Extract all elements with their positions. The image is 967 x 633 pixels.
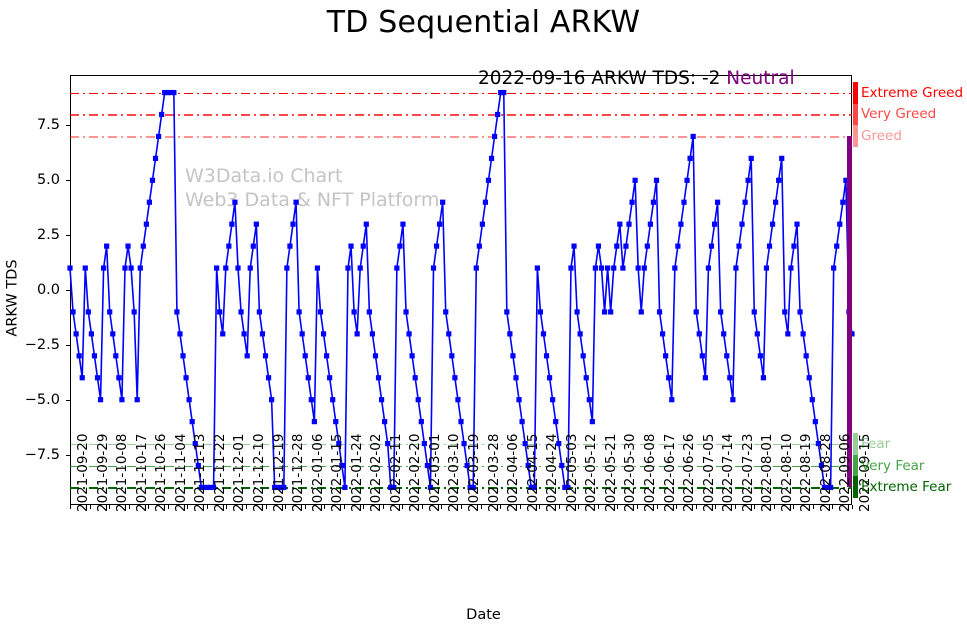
series-point: [287, 244, 292, 249]
series-point: [519, 419, 524, 424]
series-point: [629, 200, 634, 205]
zone-label-very-greed: Very Greed: [861, 106, 936, 122]
series-point: [70, 309, 75, 314]
series-point: [141, 244, 146, 249]
series-point: [373, 353, 378, 358]
series-point: [801, 331, 806, 336]
series-point: [220, 331, 225, 336]
series-point: [245, 353, 250, 358]
x-tick-label: 2022-08-01: [759, 434, 775, 512]
series-point: [113, 353, 118, 358]
x-axis-label: Date: [0, 607, 967, 623]
series-point: [147, 200, 152, 205]
x-tick-mark: [617, 505, 618, 509]
x-tick-mark: [481, 505, 482, 509]
series-point: [95, 375, 100, 380]
x-tick-label: 2022-07-14: [720, 434, 736, 512]
series-point: [443, 309, 448, 314]
x-tick-mark: [324, 505, 325, 509]
series-point: [77, 353, 82, 358]
plot-area: W3Data.io Chart Web3 Data & NFT Platform…: [70, 75, 852, 505]
x-tick-label: 2021-09-20: [75, 434, 91, 512]
series-point: [330, 397, 335, 402]
series-point: [581, 353, 586, 358]
series-point: [358, 265, 363, 270]
series-point: [840, 200, 845, 205]
series-point: [174, 309, 179, 314]
series-point: [351, 309, 356, 314]
x-tick-mark: [129, 505, 130, 509]
x-tick-label: 2022-07-05: [701, 434, 717, 512]
series-point: [345, 265, 350, 270]
series-point: [312, 419, 317, 424]
series-point: [171, 90, 176, 95]
series-point: [431, 265, 436, 270]
x-tick-label: 2022-02-11: [388, 434, 404, 512]
series-point: [660, 331, 665, 336]
series-point: [229, 222, 234, 227]
series-point: [419, 419, 424, 424]
series-point: [608, 309, 613, 314]
x-tick-mark: [90, 505, 91, 509]
zone-swatch-very-fear: [853, 455, 858, 477]
y-tick-label: 5.0: [37, 172, 60, 188]
series-point: [480, 222, 485, 227]
series-point: [691, 134, 696, 139]
series-line: [70, 93, 852, 488]
series-point: [639, 309, 644, 314]
series-point: [474, 265, 479, 270]
series-point: [538, 309, 543, 314]
current-value-annotation: 2022-09-16 ARKW TDS: -2 Neutral: [478, 68, 795, 89]
series-point: [232, 200, 237, 205]
x-tick-mark: [422, 505, 423, 509]
series-point: [773, 200, 778, 205]
series-point: [303, 353, 308, 358]
x-tick-mark: [832, 505, 833, 509]
series-point: [190, 419, 195, 424]
series-point: [74, 331, 79, 336]
annotation-main-text: 2022-09-16 ARKW TDS: -2: [478, 68, 720, 89]
series-point: [242, 331, 247, 336]
x-tick-mark: [70, 505, 71, 509]
series-point: [709, 244, 714, 249]
series-point: [300, 331, 305, 336]
series-point: [128, 265, 133, 270]
series-point: [159, 112, 164, 117]
zone-label-greed: Greed: [861, 128, 902, 144]
series-point: [187, 397, 192, 402]
x-tick-label: 2021-09-29: [95, 434, 111, 512]
x-tick-mark: [735, 505, 736, 509]
x-tick-label: 2022-08-19: [798, 434, 814, 512]
x-tick-label: 2022-06-26: [681, 434, 697, 512]
series-point: [315, 265, 320, 270]
y-tick-mark: [66, 345, 70, 346]
series-point: [122, 265, 127, 270]
series-point: [367, 309, 372, 314]
y-tick-mark: [66, 235, 70, 236]
series-point: [183, 375, 188, 380]
series-point: [761, 375, 766, 380]
series-point: [776, 178, 781, 183]
series-point: [834, 244, 839, 249]
x-tick-mark: [402, 505, 403, 509]
series-point: [636, 265, 641, 270]
series-point: [318, 309, 323, 314]
series-point: [486, 178, 491, 183]
x-tick-label: 2021-11-04: [173, 434, 189, 512]
series-point: [382, 419, 387, 424]
y-axis-label: ARKW TDS: [5, 259, 21, 336]
series-point: [742, 200, 747, 205]
zone-swatch-very-greed: [853, 103, 858, 125]
series-point: [746, 178, 751, 183]
y-tick-label: −5.0: [25, 392, 60, 408]
x-tick-mark: [598, 505, 599, 509]
series-point: [416, 397, 421, 402]
series-point: [684, 178, 689, 183]
x-tick-mark: [813, 505, 814, 509]
x-tick-label: 2022-04-24: [544, 434, 560, 512]
x-tick-mark: [441, 505, 442, 509]
x-tick-mark: [520, 505, 521, 509]
x-tick-label: 2022-02-20: [407, 434, 423, 512]
x-tick-mark: [383, 505, 384, 509]
series-point: [110, 331, 115, 336]
x-tick-mark: [461, 505, 462, 509]
y-tick-label: 7.5: [37, 117, 60, 133]
y-tick-label: −7.5: [25, 447, 60, 463]
x-tick-mark: [344, 505, 345, 509]
y-tick-label: −2.5: [25, 337, 60, 353]
x-tick-label: 2022-06-08: [642, 434, 658, 512]
series-point: [238, 309, 243, 314]
series-point: [397, 244, 402, 249]
series-point: [794, 222, 799, 227]
series-point: [755, 331, 760, 336]
series-point: [156, 134, 161, 139]
x-tick-label: 2021-12-19: [271, 434, 287, 512]
series-point: [770, 222, 775, 227]
series-point: [724, 353, 729, 358]
x-tick-mark: [246, 505, 247, 509]
series-point: [706, 265, 711, 270]
series-point: [492, 134, 497, 139]
series-point: [764, 265, 769, 270]
series-point: [489, 156, 494, 161]
y-tick-mark: [66, 400, 70, 401]
series-point: [125, 244, 130, 249]
y-tick-mark: [66, 455, 70, 456]
x-tick-label: 2022-08-28: [818, 434, 834, 512]
series-point: [483, 200, 488, 205]
x-tick-label: 2021-12-10: [251, 434, 267, 512]
series-point: [455, 397, 460, 402]
series-point: [785, 331, 790, 336]
x-tick-mark: [500, 505, 501, 509]
x-tick-label: 2021-11-22: [212, 434, 228, 512]
x-tick-mark: [109, 505, 110, 509]
x-tick-label: 2022-04-06: [505, 434, 521, 512]
series-point: [651, 200, 656, 205]
x-tick-label: 2021-10-08: [114, 434, 130, 512]
zone-label-very-fear: Very Fear: [861, 458, 924, 474]
series-point: [623, 244, 628, 249]
series-point: [83, 265, 88, 270]
series-markers: [67, 90, 854, 490]
series-point: [642, 265, 647, 270]
series-point: [116, 375, 121, 380]
y-tick-label: 2.5: [37, 227, 60, 243]
series-point: [119, 397, 124, 402]
x-tick-mark: [148, 505, 149, 509]
x-tick-mark: [168, 505, 169, 509]
series-point: [507, 331, 512, 336]
series-point: [571, 244, 576, 249]
x-tick-label: 2022-02-02: [368, 434, 384, 512]
series-point: [153, 156, 158, 161]
series-point: [694, 309, 699, 314]
series-point: [180, 353, 185, 358]
x-tick-mark: [852, 505, 853, 509]
series-point: [293, 200, 298, 205]
series-point: [633, 178, 638, 183]
annotation-zone-text: Neutral: [726, 68, 794, 89]
series-point: [361, 244, 366, 249]
series-point: [217, 309, 222, 314]
x-tick-mark: [207, 505, 208, 509]
series-point: [284, 265, 289, 270]
series-point: [269, 397, 274, 402]
series-point: [132, 309, 137, 314]
y-tick-mark: [66, 290, 70, 291]
x-tick-mark: [226, 505, 227, 509]
x-tick-label: 2021-11-13: [192, 434, 208, 512]
x-tick-label: 2022-03-10: [446, 434, 462, 512]
series-point: [452, 375, 457, 380]
series-point: [449, 353, 454, 358]
series-point: [553, 419, 558, 424]
series-point: [324, 353, 329, 358]
series-point: [501, 90, 506, 95]
series-point: [837, 222, 842, 227]
series-point: [150, 178, 155, 183]
series-point: [791, 244, 796, 249]
series-point: [86, 309, 91, 314]
series-point: [235, 265, 240, 270]
y-tick-mark: [66, 125, 70, 126]
series-point: [541, 331, 546, 336]
series-point: [101, 265, 106, 270]
series-point: [752, 309, 757, 314]
y-tick-mark: [66, 180, 70, 181]
series-point: [437, 222, 442, 227]
series-point: [513, 375, 518, 380]
series-point: [446, 331, 451, 336]
zone-swatch-fear: [853, 433, 858, 455]
series-point: [355, 331, 360, 336]
series-point: [266, 375, 271, 380]
series-point: [739, 222, 744, 227]
series-point: [672, 265, 677, 270]
series-point: [617, 222, 622, 227]
series-point: [599, 265, 604, 270]
series-point: [400, 222, 405, 227]
series-point: [645, 244, 650, 249]
series-point: [410, 353, 415, 358]
series-point: [309, 397, 314, 402]
series-point: [67, 265, 72, 270]
series-point: [657, 309, 662, 314]
series-point: [703, 375, 708, 380]
x-tick-mark: [774, 505, 775, 509]
series-point: [596, 244, 601, 249]
y-tick-label: 0.0: [37, 282, 60, 298]
x-tick-mark: [578, 505, 579, 509]
series-point: [758, 353, 763, 358]
chart-figure: TD Sequential ARKW W3Data.io Chart Web3 …: [0, 0, 967, 633]
series-point: [260, 331, 265, 336]
series-point: [590, 419, 595, 424]
series-point: [107, 309, 112, 314]
zone-swatch-greed: [853, 125, 858, 147]
x-tick-mark: [754, 505, 755, 509]
series-point: [364, 222, 369, 227]
x-tick-label: 2022-04-15: [525, 434, 541, 512]
series-point: [516, 397, 521, 402]
series-point: [290, 222, 295, 227]
x-tick-label: 2022-05-30: [622, 434, 638, 512]
x-tick-mark: [696, 505, 697, 509]
series-point: [327, 375, 332, 380]
x-tick-mark: [305, 505, 306, 509]
series-point: [697, 331, 702, 336]
series-point: [333, 419, 338, 424]
x-tick-label: 2021-12-28: [290, 434, 306, 512]
zone-swatch-extreme-fear: [853, 476, 858, 498]
zone-swatch-extreme-greed: [853, 82, 858, 104]
series-point: [648, 222, 653, 227]
series-point: [782, 309, 787, 314]
x-tick-label: 2022-03-19: [466, 434, 482, 512]
series-point: [797, 309, 802, 314]
x-tick-label: 2021-10-26: [153, 434, 169, 512]
series-point: [733, 265, 738, 270]
series-point: [89, 331, 94, 336]
series-point: [813, 419, 818, 424]
series-point: [251, 244, 256, 249]
series-point: [718, 309, 723, 314]
series-point: [144, 222, 149, 227]
series-point: [779, 156, 784, 161]
x-tick-label: 2022-06-17: [662, 434, 678, 512]
series-point: [510, 353, 515, 358]
series-point: [688, 156, 693, 161]
x-tick-label: 2022-08-10: [779, 434, 795, 512]
page-title: TD Sequential ARKW: [0, 5, 967, 40]
series-point: [226, 244, 231, 249]
series-point: [348, 244, 353, 249]
x-tick-label: 2022-03-01: [427, 434, 443, 512]
series-point: [666, 375, 671, 380]
x-tick-mark: [715, 505, 716, 509]
series-point: [654, 178, 659, 183]
series-point: [547, 375, 552, 380]
series-point: [92, 353, 97, 358]
series-point: [715, 200, 720, 205]
series-point: [611, 265, 616, 270]
zone-label-extreme-fear: Extreme Fear: [861, 479, 951, 495]
series-point: [669, 397, 674, 402]
series-point: [831, 265, 836, 270]
series-point: [434, 244, 439, 249]
x-tick-mark: [285, 505, 286, 509]
x-tick-mark: [266, 505, 267, 509]
series-point: [727, 375, 732, 380]
x-tick-mark: [187, 505, 188, 509]
x-tick-mark: [539, 505, 540, 509]
x-tick-mark: [676, 505, 677, 509]
x-tick-label: 2022-01-24: [349, 434, 365, 512]
x-tick-label: 2022-03-28: [486, 434, 502, 512]
x-tick-mark: [793, 505, 794, 509]
zone-label-fear: Fear: [861, 436, 890, 452]
series-point: [321, 331, 326, 336]
x-tick-label: 2022-01-06: [310, 434, 326, 512]
series-point: [578, 331, 583, 336]
x-tick-label: 2022-05-03: [564, 434, 580, 512]
series-point: [394, 265, 399, 270]
series-point: [297, 309, 302, 314]
series-point: [804, 353, 809, 358]
series-point: [376, 375, 381, 380]
x-tick-label: 2021-12-01: [231, 434, 247, 512]
x-tick-label: 2022-05-12: [583, 434, 599, 512]
series-point: [810, 397, 815, 402]
series-point: [675, 244, 680, 249]
x-tick-label: 2022-07-23: [740, 434, 756, 512]
series-point: [80, 375, 85, 380]
series-point: [104, 244, 109, 249]
x-tick-label: 2022-09-06: [837, 434, 853, 512]
series-point: [440, 200, 445, 205]
series-point: [767, 244, 772, 249]
series-point: [254, 222, 259, 227]
series-point: [788, 265, 793, 270]
x-tick-label: 2021-10-17: [134, 434, 150, 512]
series-point: [712, 222, 717, 227]
series-point: [98, 397, 103, 402]
series-point: [749, 156, 754, 161]
series-point: [568, 265, 573, 270]
series-point: [605, 265, 610, 270]
series-point: [406, 331, 411, 336]
series-point: [413, 375, 418, 380]
series-point: [587, 397, 592, 402]
series-point: [593, 265, 598, 270]
series-point: [223, 265, 228, 270]
series-point: [248, 265, 253, 270]
series-point: [458, 419, 463, 424]
series-point: [614, 244, 619, 249]
series-point: [736, 244, 741, 249]
series-point: [306, 375, 311, 380]
series-point: [663, 353, 668, 358]
series-point: [544, 353, 549, 358]
series-point: [584, 375, 589, 380]
series-point: [135, 397, 140, 402]
